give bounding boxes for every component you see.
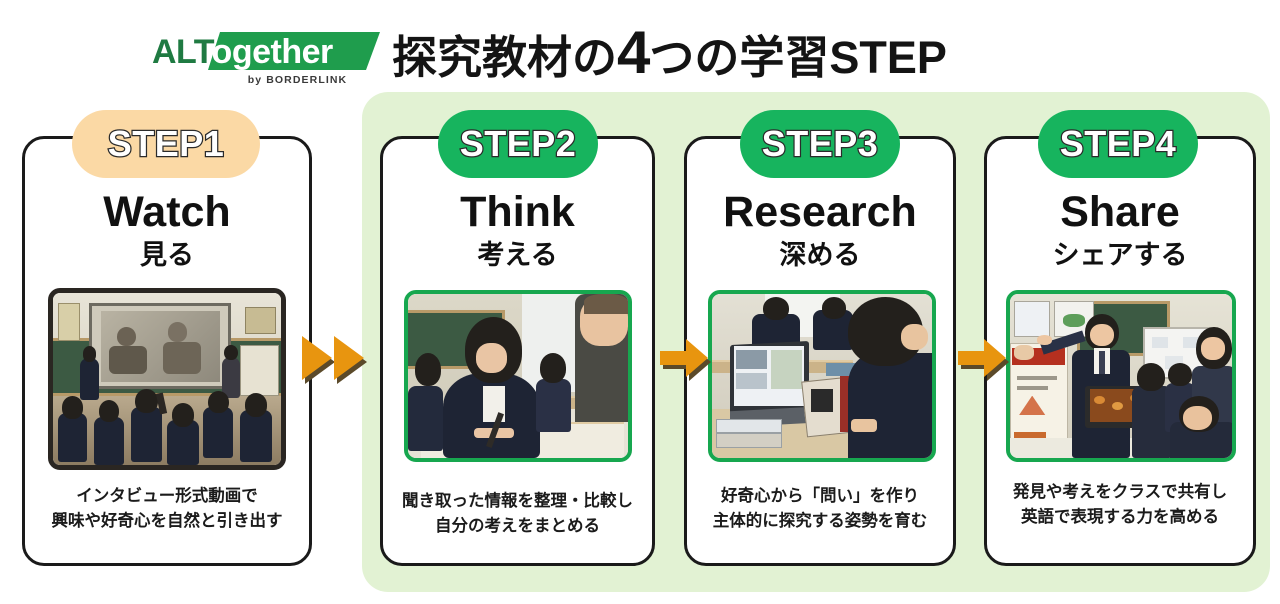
step-title-jp-1: 見る: [22, 238, 312, 272]
step-badge-label-1: STEP1: [108, 126, 225, 162]
step-badge-3: STEP3: [740, 110, 900, 178]
step-title-jp-3: 深める: [684, 238, 956, 272]
step-caption-2-line2: 自分の考えをまとめる: [380, 514, 655, 539]
step-title-en-3: Research: [684, 186, 956, 238]
step-caption-1-line1: インタビュー形式動画で: [76, 487, 258, 505]
step-badge-4: STEP4: [1038, 110, 1198, 178]
step-badge-label-2: STEP2: [460, 126, 577, 162]
header: ALTogether by BORDERLINK 探究教材の4つの学習STEP: [0, 8, 1280, 88]
title-number: 4: [617, 19, 649, 86]
step-caption-4-line1: 発見や考えをクラスで共有し: [1013, 483, 1227, 501]
logo-byline: by BORDERLINK: [210, 74, 385, 86]
step-badge-2: STEP2: [438, 110, 598, 178]
logo-wordmark: ALTogether: [152, 32, 382, 72]
arrow-block-shape-2: [660, 336, 708, 380]
step-photo-3: [708, 290, 936, 462]
step-photo-1: [48, 288, 286, 470]
step-title-en-1: Watch: [22, 186, 312, 238]
step-caption-2: 聞き取った情報を整理・比較し 自分の考えをまとめる: [380, 489, 655, 539]
step-caption-3: 好奇心から「問い」を作り 主体的に探究する姿勢を育む: [684, 484, 956, 534]
step-badge-label-4: STEP4: [1060, 126, 1177, 162]
logo-alt-text: ALT: [152, 33, 212, 71]
step-title-jp-4: シェアする: [984, 238, 1256, 272]
step-photo-1-image: [53, 293, 281, 465]
step-title-en-4: Share: [984, 186, 1256, 238]
step-caption-3-line2: 主体的に探究する姿勢を育む: [684, 509, 956, 534]
step-caption-4-line2: 英語で表現する力を高める: [984, 505, 1256, 530]
step-photo-2: [404, 290, 632, 462]
step-caption-4: 発見や考えをクラスで共有し 英語で表現する力を高める: [984, 480, 1256, 530]
arrow-block-icon-2: [660, 336, 708, 380]
arrow-block-icon-3: [958, 336, 1006, 380]
step-badge-1: STEP1: [72, 110, 260, 178]
arrow-triangle-icon-1b: [334, 336, 364, 380]
infographic-root: ALTogether by BORDERLINK 探究教材の4つの学習STEP …: [0, 0, 1280, 604]
step-title-en-2: Think: [380, 186, 655, 238]
step-caption-1-line2: 興味や好奇心を自然と引き出す: [22, 509, 312, 534]
arrow-block-shape-3: [958, 336, 1006, 380]
step-photo-4-image: [1010, 294, 1232, 458]
step-title-jp-2: 考える: [380, 238, 655, 272]
step-caption-2-line1: 聞き取った情報を整理・比較し: [402, 492, 633, 510]
step-photo-4: [1006, 290, 1236, 462]
step-caption-3-line1: 好奇心から「問い」を作り: [721, 487, 919, 505]
arrow-triangle-icon-1a: [302, 336, 332, 380]
title-prefix: 探究教材の: [392, 32, 617, 83]
logo-together-text: ogether: [212, 33, 333, 71]
step-caption-1: インタビュー形式動画で 興味や好奇心を自然と引き出す: [22, 484, 312, 534]
step-badge-label-3: STEP3: [762, 126, 879, 162]
step-photo-3-image: [712, 294, 932, 458]
step-photo-2-image: [408, 294, 628, 458]
altogether-logo: ALTogether by BORDERLINK: [152, 30, 382, 92]
title-suffix: つの学習STEP: [649, 32, 947, 83]
page-title: 探究教材の4つの学習STEP: [392, 22, 947, 89]
